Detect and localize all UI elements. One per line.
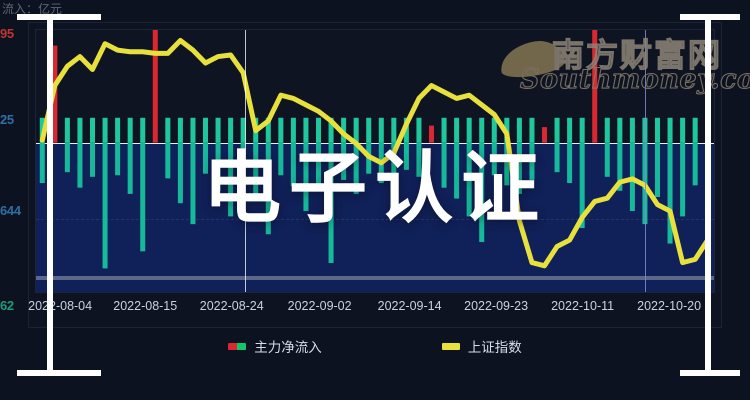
x-axis-tick: 2022-09-23 — [464, 299, 528, 313]
y-axis-label-3: 62 — [0, 298, 14, 313]
frame-bracket-right-v — [705, 14, 711, 376]
x-axis: 2022-08-042022-08-152022-08-242022-09-02… — [29, 299, 721, 321]
index-line-layer — [36, 30, 714, 292]
y-axis-label-0: 95 — [0, 26, 14, 41]
x-axis-tick: 2022-09-14 — [378, 299, 442, 313]
crosshair-blue — [645, 30, 646, 292]
y-axis-label-2: 644 — [0, 203, 21, 218]
screenshot-root: 流入：亿元 95 25 644 62 2022-08-042022-08-152… — [0, 0, 750, 400]
x-axis-tick: 2022-08-24 — [200, 299, 264, 313]
frame-bracket-top-left-h — [17, 14, 101, 20]
legend-label-shanghai-index: 上证指数 — [468, 336, 522, 356]
legend-swatch-index-icon — [442, 343, 460, 350]
frame-bracket-bottom-left-h — [17, 370, 101, 376]
frame-bracket-bottom-right-h — [680, 370, 740, 376]
x-axis-tick: 2022-10-11 — [551, 299, 614, 313]
legend-item-main-net-inflow[interactable]: 主力净流入 — [228, 336, 322, 356]
x-axis-tick: 2022-10-20 — [637, 299, 701, 313]
frame-bracket-left-v — [47, 14, 53, 376]
bottom-scroll-bar[interactable] — [36, 276, 714, 280]
chart-legend: 主力净流入 上证指数 — [0, 332, 750, 360]
legend-item-shanghai-index[interactable]: 上证指数 — [442, 336, 522, 356]
legend-swatch-inflow-icon — [228, 343, 246, 350]
x-axis-tick: 2022-08-04 — [28, 299, 92, 313]
chart-plot-area — [35, 29, 715, 293]
chart-container: 2022-08-042022-08-152022-08-242022-09-02… — [28, 22, 722, 328]
x-axis-tick: 2022-09-02 — [288, 299, 352, 313]
crosshair-white — [245, 30, 246, 292]
legend-label-main-net-inflow: 主力净流入 — [254, 336, 322, 356]
x-axis-tick: 2022-08-15 — [113, 299, 177, 313]
y-axis-label-1: 25 — [0, 112, 14, 127]
